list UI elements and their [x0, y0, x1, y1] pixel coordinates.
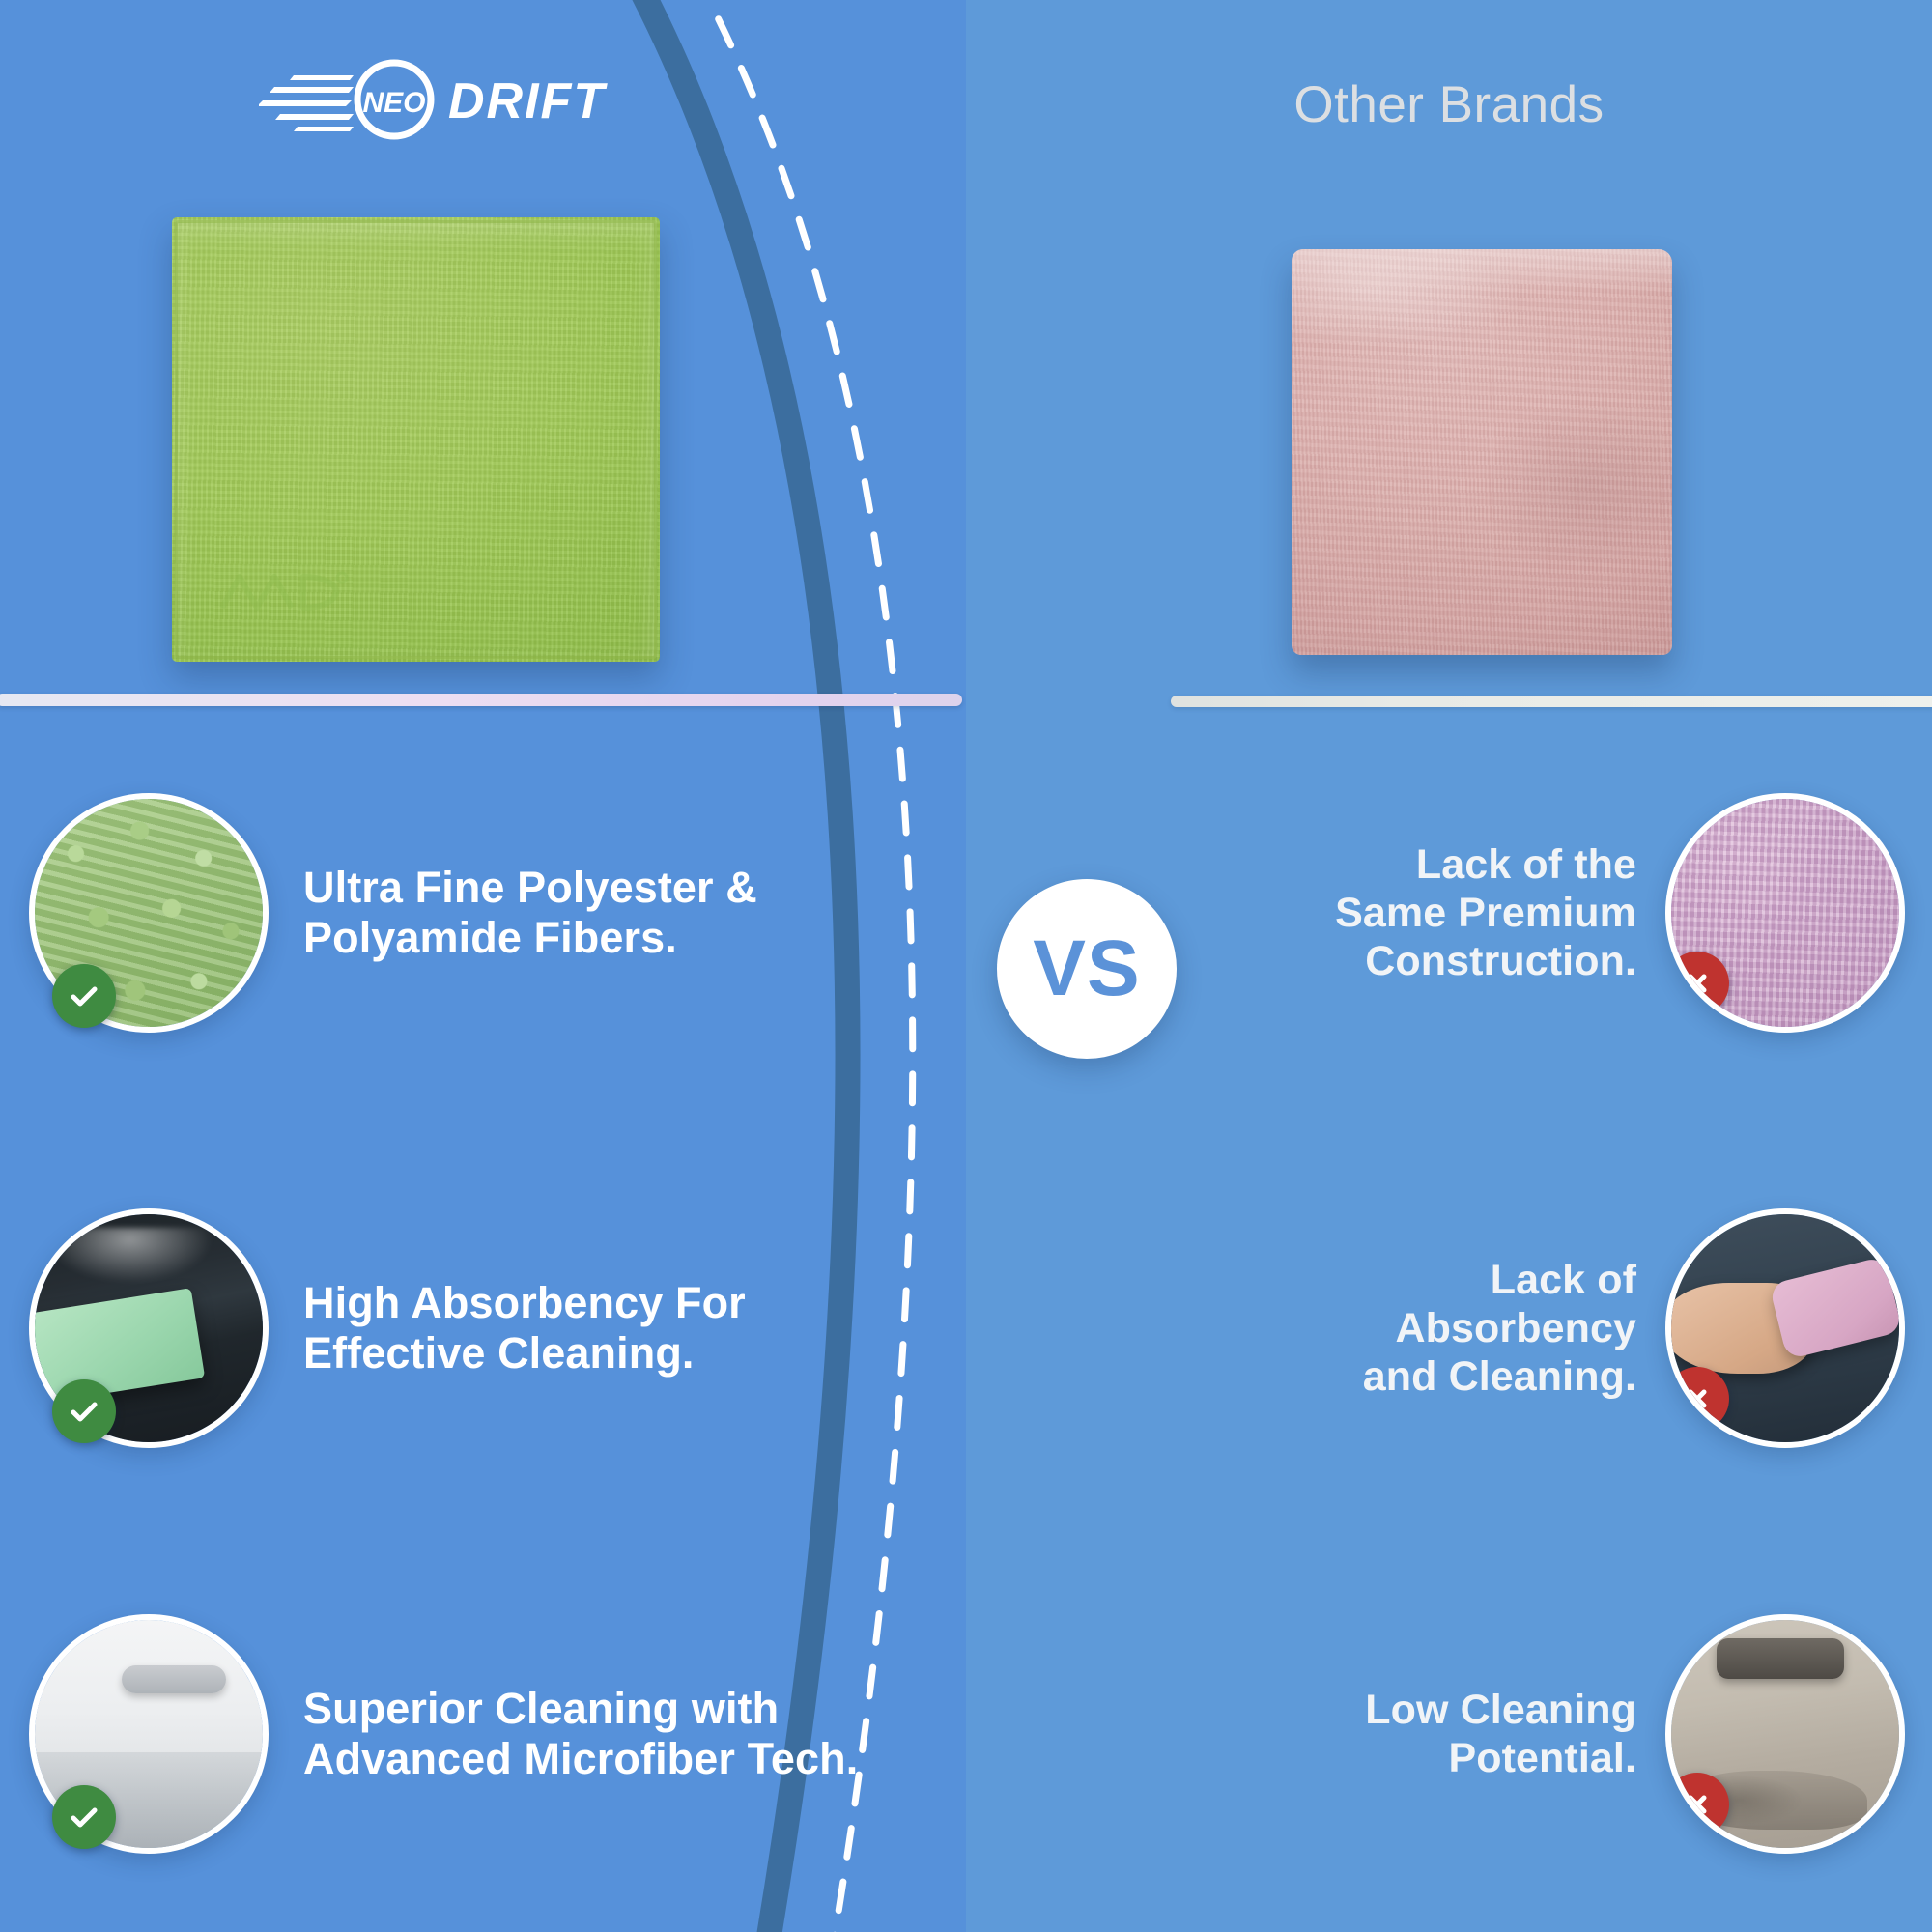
competitor-feature-thumbnail — [1665, 1614, 1905, 1854]
divider-left — [0, 694, 962, 706]
brand-logo[interactable]: NEO DRIFT — [259, 56, 626, 143]
cross-icon — [1665, 1367, 1729, 1431]
check-icon — [52, 1379, 116, 1443]
brand-feature-item: High Absorbency ForEffective Cleaning. — [29, 1207, 918, 1449]
vs-label: VS — [1033, 923, 1140, 1014]
cross-icon — [1665, 952, 1729, 1015]
brand-feature-text: High Absorbency ForEffective Cleaning. — [303, 1278, 746, 1378]
brand-feature-item: Superior Cleaning withAdvanced Microfibe… — [29, 1613, 918, 1855]
infographic-canvas: NEO DRIFT Other Brands VS — [0, 0, 1932, 1932]
nd-emboss-logo-icon — [214, 565, 350, 615]
comparison-row: Ultra Fine Polyester &Polyamide Fibers. … — [0, 792, 1932, 1043]
check-icon — [52, 964, 116, 1028]
competitor-feature-item: Low CleaningPotential. — [1016, 1613, 1905, 1855]
cross-icon — [1665, 1773, 1729, 1836]
logo-drift-text: DRIFT — [448, 73, 608, 129]
competitor-feature-text: Lack of theSame PremiumConstruction. — [1335, 840, 1636, 986]
brand-feature-text: Ultra Fine Polyester &Polyamide Fibers. — [303, 863, 757, 963]
comparison-row: Superior Cleaning withAdvanced Microfibe… — [0, 1613, 1932, 1864]
competitor-title: Other Brands — [1217, 75, 1681, 134]
check-icon — [52, 1785, 116, 1849]
brand-product-image — [172, 217, 660, 662]
speed-lines-icon — [259, 75, 354, 131]
neodrift-logo-icon: NEO DRIFT — [259, 56, 626, 143]
vs-badge: VS — [997, 879, 1177, 1059]
logo-neo-text: NEO — [362, 87, 425, 119]
competitor-product-image — [1292, 249, 1672, 655]
brand-feature-item: Ultra Fine Polyester &Polyamide Fibers. — [29, 792, 918, 1034]
divider-right — [1171, 696, 1932, 707]
competitor-feature-text: Lack ofAbsorbencyand Cleaning. — [1363, 1256, 1636, 1402]
competitor-feature-item: Lack ofAbsorbencyand Cleaning. — [1016, 1207, 1905, 1449]
competitor-feature-text: Low CleaningPotential. — [1365, 1686, 1636, 1783]
brand-feature-text: Superior Cleaning withAdvanced Microfibe… — [303, 1684, 858, 1784]
competitor-feature-thumbnail — [1665, 793, 1905, 1033]
competitor-feature-thumbnail — [1665, 1208, 1905, 1448]
comparison-row: High Absorbency ForEffective Cleaning. L… — [0, 1207, 1932, 1459]
